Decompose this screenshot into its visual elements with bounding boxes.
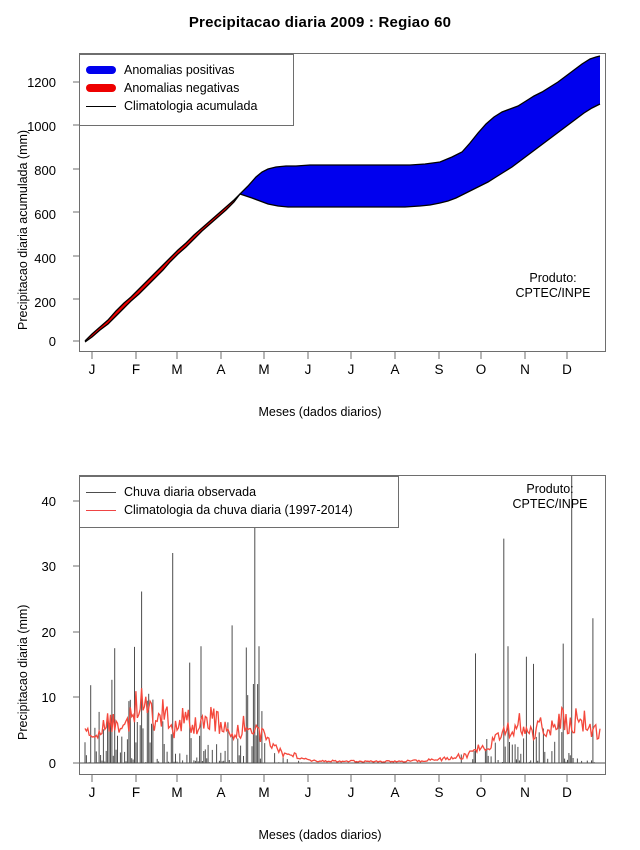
- accumulated-precipitation-panel: Precipitacao diaria 2009 : Regiao 60 Pre…: [0, 0, 640, 430]
- bottom-xtick-F: F: [122, 786, 150, 800]
- top-xtick-M1: M: [163, 363, 191, 377]
- bottom-xtick-A1: A: [207, 786, 235, 800]
- bottom-produto-line2: CPTEC/INPE: [512, 497, 587, 511]
- top-xtick-N: N: [511, 363, 539, 377]
- legend-label-negative-anomaly: Anomalias negativas: [122, 81, 239, 95]
- bottom-x-ticks: [92, 775, 567, 783]
- top-x-ticks: [92, 352, 567, 360]
- bottom-y-ticks: [73, 501, 80, 763]
- daily-precipitation-panel: Precipitacao diaria (mm) 40 30 20 10 0: [0, 430, 640, 850]
- legend-label-climatology: Climatologia acumulada: [122, 99, 257, 113]
- bottom-xtick-N: N: [511, 786, 539, 800]
- top-xtick-F: F: [122, 363, 150, 377]
- bottom-xtick-J3: J: [337, 786, 365, 800]
- positive-anomaly-area: [240, 56, 600, 207]
- positive-anomaly-swatch-icon: [80, 66, 122, 74]
- bottom-xtick-J2: J: [294, 786, 322, 800]
- top-produto-line1: Produto:: [529, 271, 576, 285]
- bottom-xtick-J1: J: [78, 786, 106, 800]
- negative-anomaly-swatch-icon: [80, 84, 122, 92]
- legend-item-positive-anomaly: Anomalias positivas: [80, 61, 293, 79]
- top-xtick-A2: A: [381, 363, 409, 377]
- legend-item-observed-daily: Chuva diaria observada: [80, 483, 398, 501]
- bottom-xtick-M2: M: [250, 786, 278, 800]
- bottom-legend: Chuva diaria observada Climatologia da c…: [79, 476, 399, 528]
- climatology-daily-line: [85, 688, 600, 762]
- bottom-xtick-M1: M: [163, 786, 191, 800]
- top-xtick-A1: A: [207, 363, 235, 377]
- bottom-xtick-O: O: [467, 786, 495, 800]
- legend-item-negative-anomaly: Anomalias negativas: [80, 79, 293, 97]
- observed-daily-line-swatch-icon: [80, 492, 122, 493]
- bottom-xtick-D: D: [553, 786, 581, 800]
- legend-item-climatology: Climatologia acumulada: [80, 97, 293, 115]
- bottom-x-axis-title: Meses (dados diarios): [0, 828, 640, 842]
- bottom-xtick-S: S: [425, 786, 453, 800]
- top-x-axis-title: Meses (dados diarios): [0, 405, 640, 419]
- top-xtick-J2: J: [294, 363, 322, 377]
- top-produto-line2: CPTEC/INPE: [515, 286, 590, 300]
- bottom-produto-line1: Produto:: [526, 482, 573, 496]
- bottom-produto-annotation: Produto: CPTEC/INPE: [495, 482, 605, 512]
- legend-label-climatology-daily: Climatologia da chuva diaria (1997-2014): [122, 503, 353, 517]
- top-xtick-D: D: [553, 363, 581, 377]
- climatology-line-swatch-icon: [80, 106, 122, 107]
- top-xtick-S: S: [425, 363, 453, 377]
- top-xtick-O: O: [467, 363, 495, 377]
- legend-item-climatology-daily: Climatologia da chuva diaria (1997-2014): [80, 501, 398, 519]
- top-xtick-M2: M: [250, 363, 278, 377]
- top-legend: Anomalias positivas Anomalias negativas …: [79, 54, 294, 126]
- top-xtick-J3: J: [337, 363, 365, 377]
- legend-label-observed-daily: Chuva diaria observada: [122, 485, 256, 499]
- legend-label-positive-anomaly: Anomalias positivas: [122, 63, 234, 77]
- climatology-daily-line-swatch-icon: [80, 510, 122, 511]
- bottom-xtick-A2: A: [381, 786, 409, 800]
- top-produto-annotation: Produto: CPTEC/INPE: [498, 271, 608, 301]
- top-xtick-J1: J: [78, 363, 106, 377]
